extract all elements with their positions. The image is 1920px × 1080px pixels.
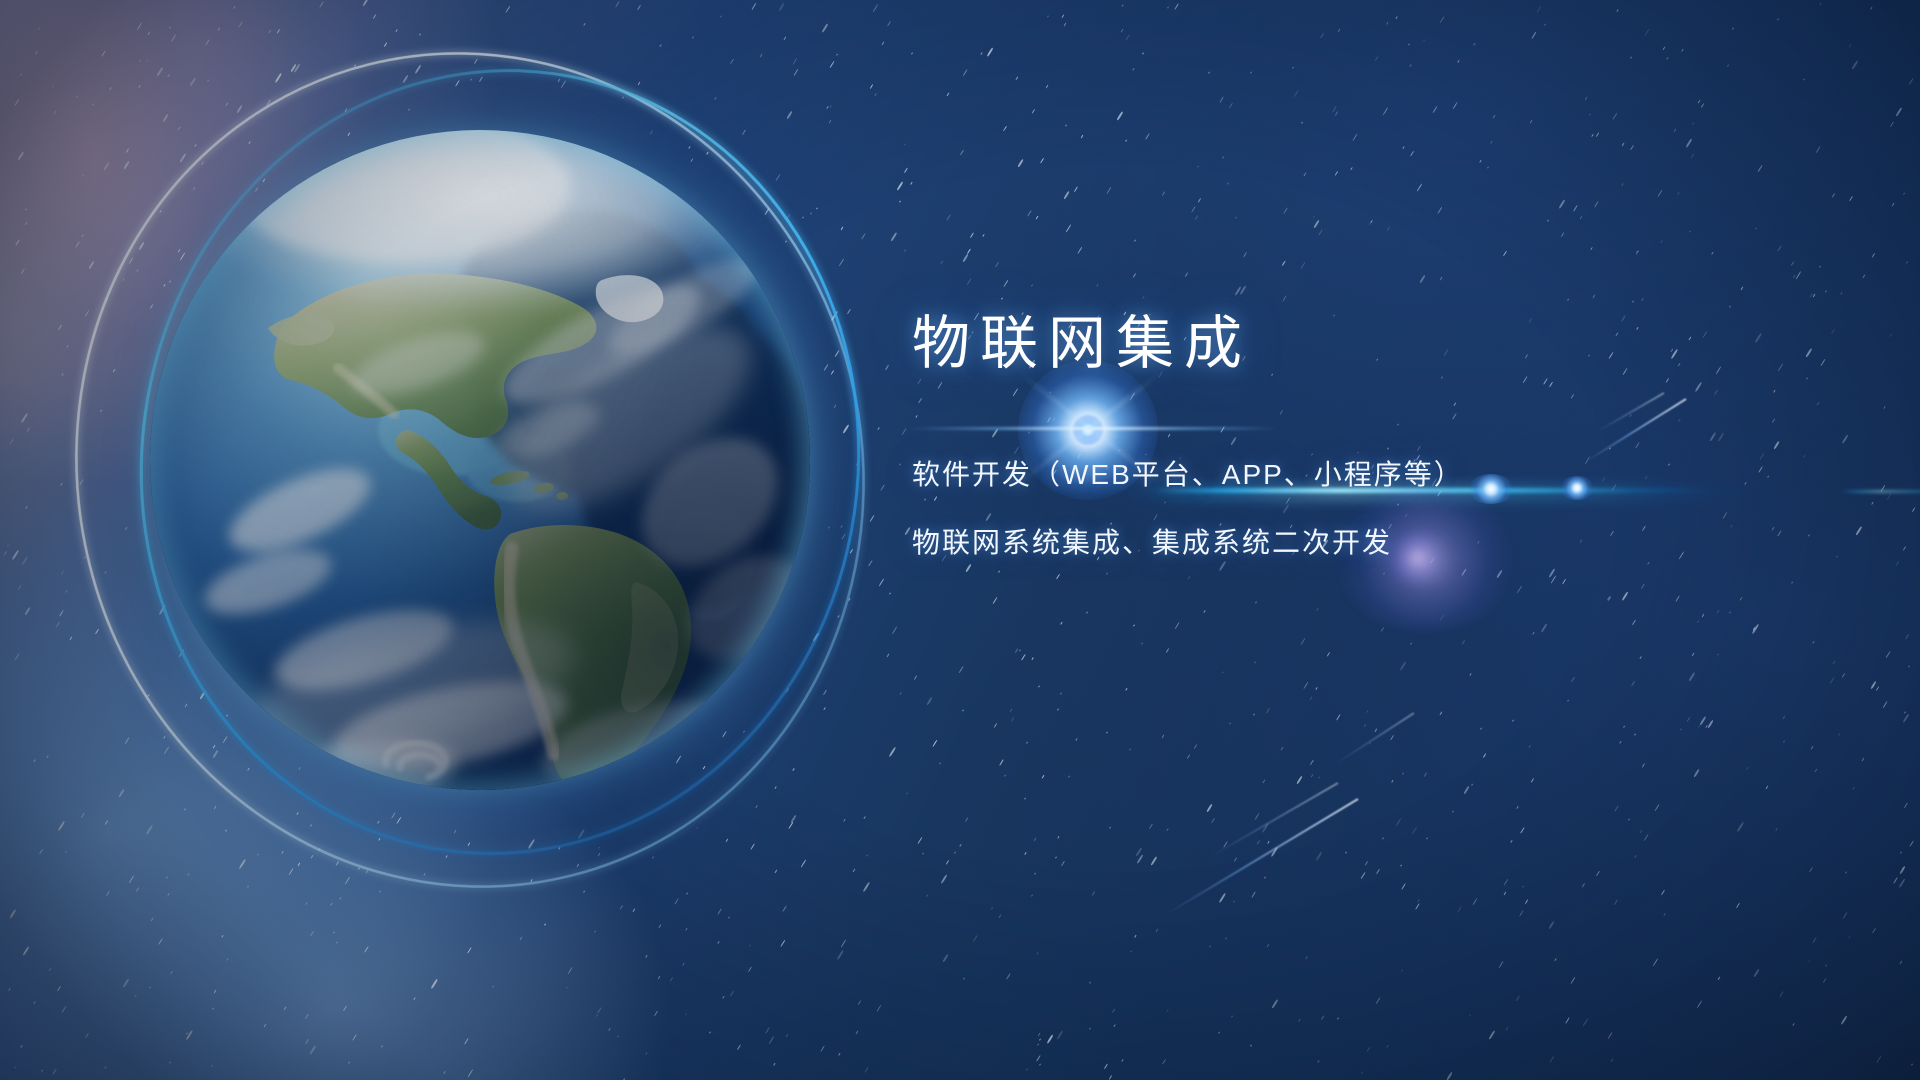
hero-banner: 物联网集成 软件开发（WEB平台、APP、小程序等） 物联网系统集成、集成系统二… bbox=[0, 0, 1920, 1080]
page-title: 物联网集成 bbox=[912, 312, 1672, 377]
orbit-ring-inner bbox=[91, 24, 909, 900]
hero-subtitle-1: 软件开发（WEB平台、APP、小程序等） bbox=[912, 461, 1672, 489]
hero-subtitle-2: 物联网系统集成、集成系统二次开发 bbox=[912, 529, 1672, 557]
hero-copy: 物联网集成 软件开发（WEB平台、APP、小程序等） 物联网系统集成、集成系统二… bbox=[912, 312, 1672, 557]
